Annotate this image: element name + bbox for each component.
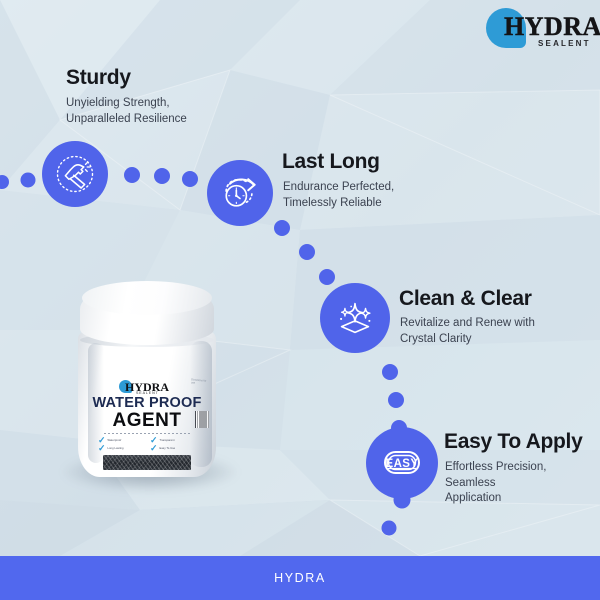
jar-product-name-line1: WATER PROOF	[92, 396, 202, 411]
jar-label-check-text: Transparent	[160, 439, 175, 442]
feature-icon-last-long[interactable]	[207, 160, 273, 226]
footer-bar: HYDRA	[0, 556, 600, 600]
feature-description-last-long: Endurance Perfected, Timelessly Reliable	[283, 180, 394, 211]
jar-label-logo: HYDRA SEALENT	[92, 379, 202, 395]
jar-label-check-text: Easy To Use	[160, 447, 176, 450]
product-jar: Directions for use HYDRA SEALENT WATER P…	[78, 283, 216, 483]
feature-description-easy-to-apply: Effortless Precision, Seamless Applicati…	[445, 460, 600, 507]
jar-label-divider	[104, 433, 190, 434]
feature-title-sturdy: Sturdy	[66, 66, 131, 90]
footer-brand-text: HYDRA	[274, 571, 326, 585]
easy-badge-icon: EASY	[376, 437, 428, 489]
jar-label-check-item: ✓ Long Lasting	[98, 445, 144, 452]
feature-description-sturdy: Unyielding Strength, Unparalleled Resili…	[66, 96, 187, 127]
feature-icon-sturdy[interactable]	[42, 141, 108, 207]
feature-title-clean-clear: Clean & Clear	[399, 287, 532, 311]
jar-label-check-item: ✓ Easy To Use	[150, 445, 196, 452]
feature-title-last-long: Last Long	[282, 150, 380, 174]
jar-label-texture-strip	[103, 455, 191, 470]
feature-description-clean-clear: Revitalize and Renew with Crystal Clarit…	[400, 316, 535, 347]
hammer-icon	[54, 153, 96, 195]
feature-icon-easy-to-apply[interactable]: EASY	[366, 427, 438, 499]
check-icon: ✓	[98, 445, 106, 452]
svg-text:EASY: EASY	[386, 458, 419, 470]
check-icon: ✓	[150, 445, 158, 452]
clock-arrow-icon	[218, 171, 262, 215]
product-infographic: HYDRA SEALENT Sturdy Un	[0, 0, 600, 600]
sparkle-surface-icon	[332, 295, 378, 341]
jar-label: HYDRA SEALENT WATER PROOF AGENT ✓ Waterp…	[92, 379, 202, 470]
jar-lid-top-surface	[82, 281, 212, 315]
jar-label-check-text: Waterproof	[108, 439, 122, 442]
jar-label-brand-subtitle: SEALENT	[136, 391, 159, 395]
jar-product-name-line2: AGENT	[92, 411, 202, 431]
feature-icon-clean-clear[interactable]	[320, 283, 390, 353]
jar-label-feature-checks: ✓ Waterproof ✓ Transparent ✓ Long Lastin…	[92, 437, 202, 452]
feature-title-easy-to-apply: Easy To Apply	[444, 430, 582, 454]
jar-label-check-text: Long Lasting	[108, 447, 124, 450]
